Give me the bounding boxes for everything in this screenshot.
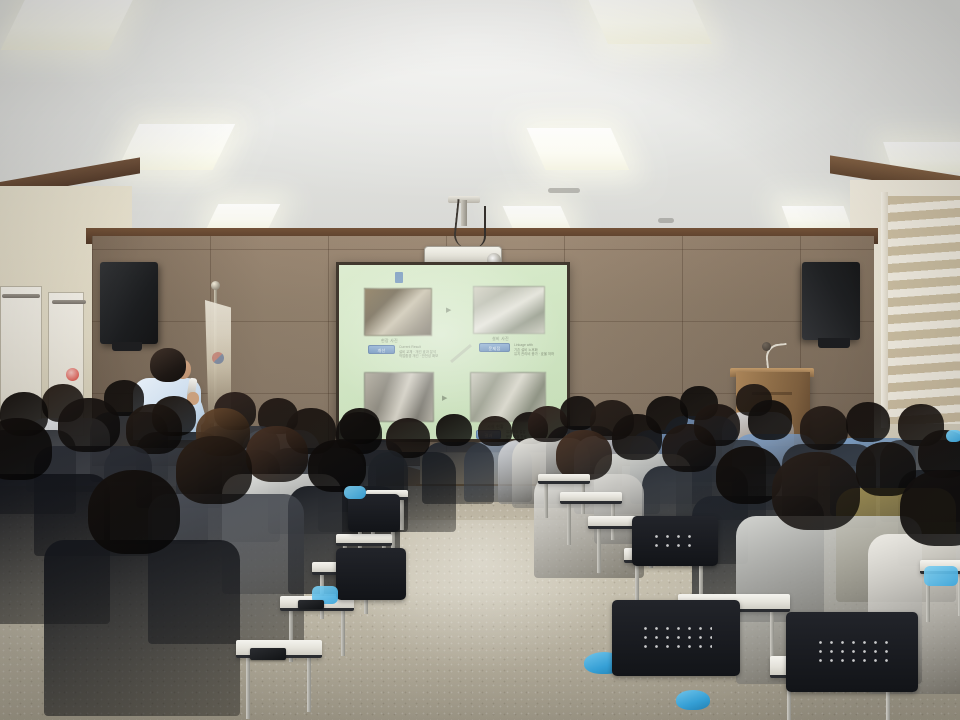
attendee-head	[528, 406, 568, 442]
desk-surface-leg-2	[400, 500, 404, 530]
desk-surface-leg-2	[307, 658, 311, 712]
attendee-head	[246, 426, 308, 482]
projector-cable-secondary	[470, 206, 486, 248]
ceiling-light-3	[206, 204, 281, 230]
blue-bag	[924, 566, 958, 586]
attendee-head	[846, 402, 890, 442]
speaker-left-bracket	[112, 342, 142, 351]
red-circle-sign	[66, 368, 79, 381]
desk-surface[interactable]	[336, 534, 392, 546]
attendee-head	[612, 414, 662, 460]
wall-speaker-right	[802, 262, 860, 340]
flag-emblem-icon	[212, 352, 224, 364]
attendee-head	[478, 416, 512, 446]
attendee-head	[308, 440, 366, 492]
desk-surface[interactable]	[538, 474, 590, 484]
desk-surface-leg	[567, 504, 571, 545]
attendee-head	[176, 436, 252, 504]
attendee-head	[58, 398, 120, 452]
ceiling-light-6	[503, 206, 572, 230]
blue-bag	[946, 430, 960, 442]
speaker-right-bracket	[818, 338, 850, 348]
chair-back[interactable]	[348, 494, 400, 532]
chair-back-dots	[651, 532, 699, 551]
desk-surface[interactable]	[560, 492, 622, 504]
flag-finial-icon	[211, 281, 220, 290]
desk-surface-leg	[597, 529, 601, 573]
ceiling-vent-right	[548, 188, 580, 193]
attendee-head	[662, 424, 716, 472]
door-handle-2[interactable]	[52, 300, 86, 304]
desk-surface-leg	[544, 484, 548, 518]
presenter-head	[150, 348, 186, 382]
ceiling-vent-mid	[658, 218, 674, 223]
window-blinds	[882, 196, 960, 424]
attendee-torso	[44, 540, 240, 716]
chair-back-dots	[815, 638, 889, 668]
attendee-head	[88, 470, 180, 554]
microphone-head-icon	[762, 342, 771, 351]
attendee-head	[436, 414, 472, 446]
wall-speaker-left	[100, 262, 158, 344]
desk-surface-leg	[246, 658, 250, 719]
blue-bag	[344, 486, 366, 499]
desk-surface-leg-2	[341, 611, 345, 656]
door-handle-1[interactable]	[2, 294, 40, 298]
phone-on-desk[interactable]	[250, 648, 286, 660]
attendee-head	[800, 406, 848, 450]
attendee-head	[772, 452, 860, 530]
chair-back-dots	[640, 624, 712, 653]
attendee-head	[748, 400, 792, 440]
blinds-post	[881, 192, 888, 428]
attendee-head	[556, 430, 612, 480]
shoe-cover	[676, 690, 710, 710]
ceiling-light-8	[782, 206, 853, 230]
chair-back[interactable]	[336, 548, 406, 600]
lecture-hall-photo: 현장 사진설비 사진시설 현황개선문제점결과Current Result 설비 …	[0, 0, 960, 720]
phone-on-desk[interactable]	[298, 600, 324, 609]
